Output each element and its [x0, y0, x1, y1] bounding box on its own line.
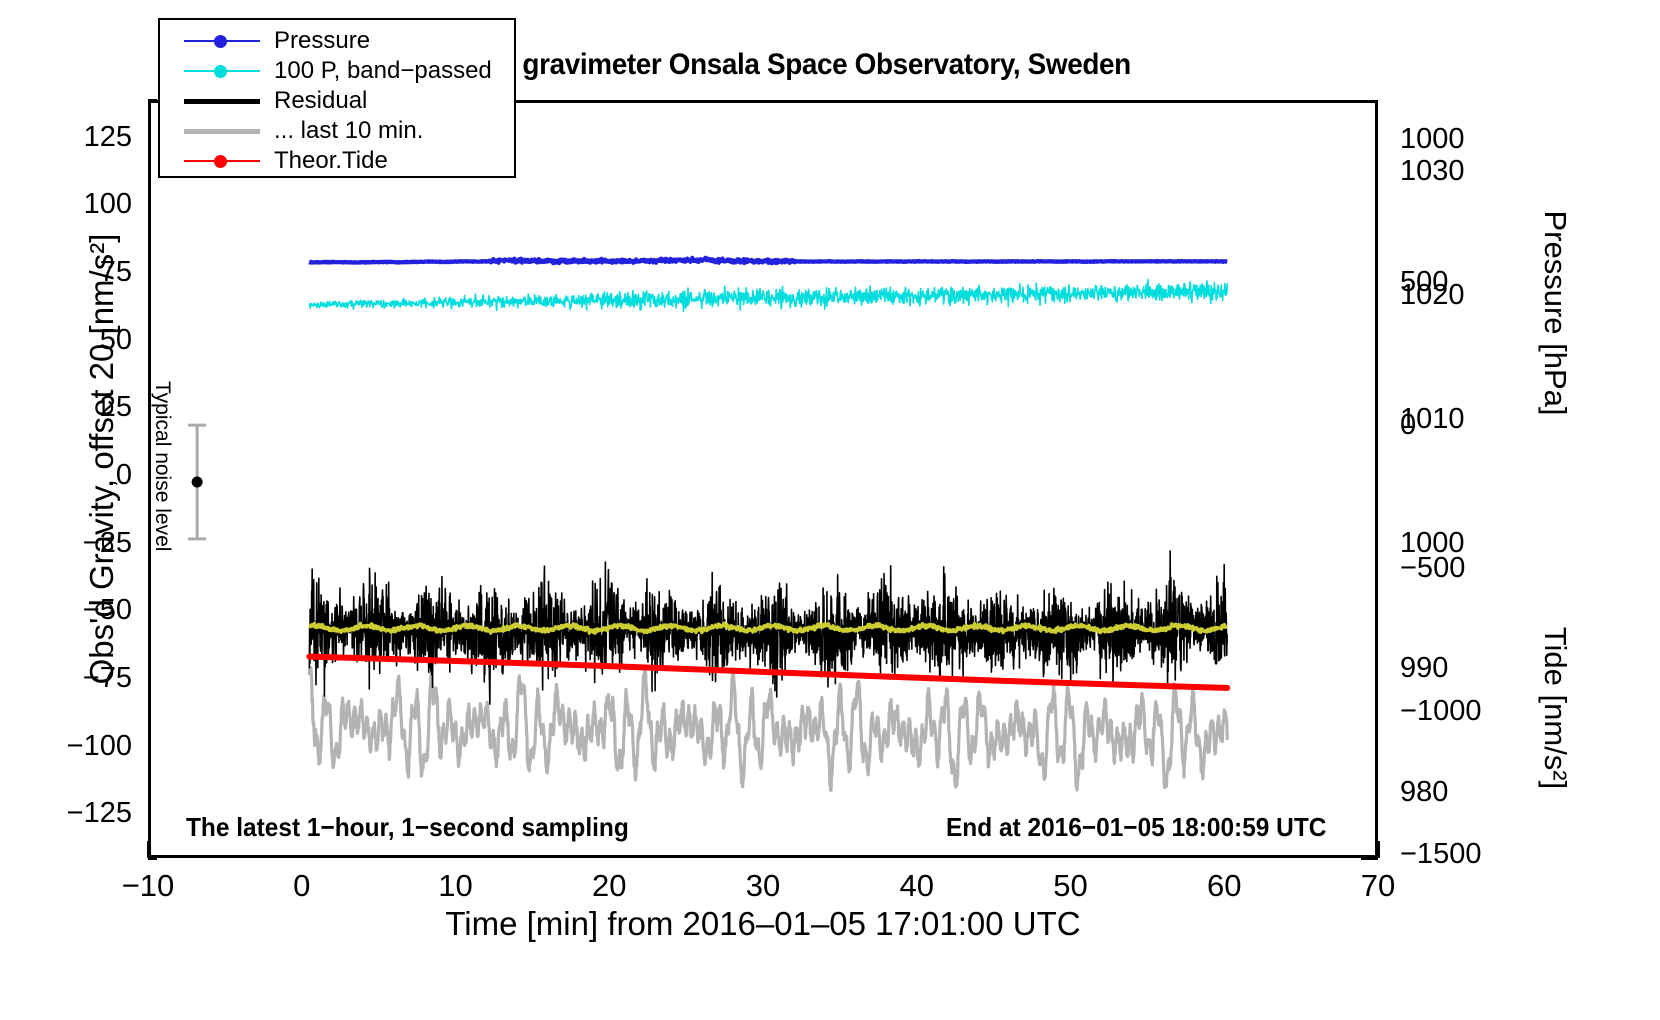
x-tick-label: 20 — [549, 868, 669, 904]
y-right-bottom-tick-label: −500 — [1400, 552, 1540, 585]
legend-label: Residual — [274, 89, 367, 113]
x-tick-label: 0 — [242, 868, 362, 904]
x-tick-label: 70 — [1318, 868, 1438, 904]
legend-label: Pressure — [274, 29, 370, 53]
series-svg — [151, 103, 1375, 855]
series-pressure — [309, 258, 1227, 264]
x-tick-label: 10 — [396, 868, 516, 904]
plot-canvas — [151, 103, 1375, 855]
y-right-bottom-tick-label: −1500 — [1400, 838, 1540, 871]
legend-label: 100 P, band−passed — [274, 59, 492, 83]
end-time-note: End at 2016−01−05 18:00:59 UTC — [946, 812, 1326, 843]
legend-label: ... last 10 min. — [274, 119, 423, 143]
x-tick-label: 30 — [703, 868, 823, 904]
y-left-tick-label: 75 — [20, 256, 132, 289]
legend-item-1[interactable]: 100 P, band−passed — [160, 56, 514, 86]
series-theor-tide — [309, 657, 1227, 688]
y-left-tick-label: −125 — [20, 797, 132, 830]
series-band-passed — [309, 280, 1227, 312]
y-left-tick-label: 50 — [20, 324, 132, 357]
y-axis-right-bottom-label: Tide [nm/s²] — [1537, 498, 1573, 918]
x-tick-label: 40 — [857, 868, 977, 904]
x-tick-label: −10 — [88, 868, 208, 904]
plot-area — [148, 100, 1378, 858]
y-left-tick-label: −100 — [20, 730, 132, 763]
legend-item-2[interactable]: Residual — [160, 86, 514, 116]
x-axis-label: Time [min] from 2016–01–05 17:01:00 UTC — [148, 905, 1378, 943]
y-left-tick-label: 0 — [20, 459, 132, 492]
y-right-bottom-tick-label: 500 — [1400, 266, 1540, 299]
y-left-tick-label: 25 — [20, 391, 132, 424]
y-right-top-tick-label: 1030 — [1400, 155, 1510, 188]
legend-swatch-icon — [184, 32, 260, 50]
y-right-bottom-tick-label: 0 — [1400, 409, 1540, 442]
noise-level-annotation: Typical noise level — [150, 381, 174, 581]
y-right-bottom-tick-label: 1000 — [1400, 123, 1540, 156]
y-left-tick-label: 125 — [20, 121, 132, 154]
legend-swatch-icon — [184, 152, 260, 170]
chart-root: SCG_054 gravimeter Onsala Space Observat… — [0, 0, 1660, 1020]
legend[interactable]: Pressure100 P, band−passedResidual... la… — [158, 18, 516, 178]
sampling-note: The latest 1−hour, 1−second sampling — [186, 812, 629, 843]
legend-swatch-icon — [184, 92, 260, 110]
y-right-top-tick-label: 980 — [1400, 776, 1510, 809]
y-left-tick-label: −50 — [20, 594, 132, 627]
y-right-top-tick-label: 990 — [1400, 652, 1510, 685]
x-tick-label: 50 — [1011, 868, 1131, 904]
y-left-tick-label: −25 — [20, 527, 132, 560]
y-left-tick-label: 100 — [20, 188, 132, 221]
y-axis-right-top-label: Pressure [hPa] — [1537, 103, 1573, 523]
legend-item-4[interactable]: Theor.Tide — [160, 146, 514, 176]
noise-level-dot — [192, 477, 203, 488]
legend-swatch-icon — [184, 62, 260, 80]
legend-swatch-icon — [184, 122, 260, 140]
y-left-tick-label: −75 — [20, 662, 132, 695]
y-right-bottom-tick-label: −1000 — [1400, 695, 1540, 728]
x-tick-label: 60 — [1164, 868, 1284, 904]
legend-label: Theor.Tide — [274, 149, 388, 173]
legend-item-0[interactable]: Pressure — [160, 26, 514, 56]
legend-item-3[interactable]: ... last 10 min. — [160, 116, 514, 146]
